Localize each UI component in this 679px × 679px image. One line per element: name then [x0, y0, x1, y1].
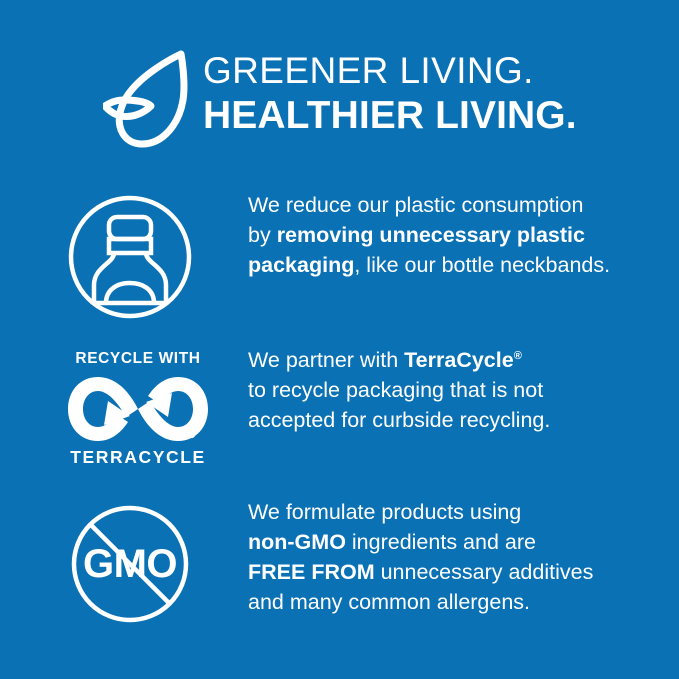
icon-cell-plastic — [60, 190, 210, 325]
gmo-label: GMO — [66, 505, 194, 623]
text-cell-gmo: We formulate products usingnon-GMO ingre… — [248, 497, 668, 617]
headline-line-1: GREENER LIVING. — [203, 48, 643, 93]
greener-living-infographic: { "theme": { "background_color": "#0a71b… — [0, 0, 679, 679]
body-line: We reduce our plastic consumption — [248, 190, 668, 220]
leaf-icon — [103, 48, 199, 152]
body-line: packaging, like our bottle neckbands. — [248, 250, 668, 280]
body-line: non-GMO ingredients and are — [248, 527, 668, 557]
body-line: FREE FROM unnecessary additives — [248, 557, 668, 587]
headline-line-2: HEALTHIER LIVING. — [203, 93, 643, 138]
icon-cell-terracycle: RECYCLE WITH ® TERRACYCLE — [60, 345, 210, 480]
terracycle-logo-top-text: RECYCLE WITH — [64, 349, 212, 368]
body-line: and many common allergens. — [248, 587, 668, 617]
feature-row-terracycle: RECYCLE WITH ® TERRACYCLE We partner wit… — [0, 345, 679, 485]
body-line: We partner with TerraCycle® — [248, 345, 668, 375]
headline-group: GREENER LIVING. HEALTHIER LIVING. — [203, 48, 643, 138]
header: GREENER LIVING. HEALTHIER LIVING. — [0, 0, 679, 170]
terracycle-registered-mark: ® — [188, 431, 195, 441]
text-cell-terracycle: We partner with TerraCycle®to recycle pa… — [248, 345, 668, 435]
body-line: accepted for curbside recycling. — [248, 405, 668, 435]
terracycle-recycle-logo: RECYCLE WITH ® TERRACYCLE — [64, 349, 212, 477]
feature-row-gmo: GMO We formulate products usingnon-GMO i… — [0, 497, 679, 637]
feature-row-plastic: We reduce our plastic consumptionby remo… — [0, 190, 679, 325]
body-line: by removing unnecessary plastic — [248, 220, 668, 250]
text-cell-plastic: We reduce our plastic consumptionby remo… — [248, 190, 668, 280]
plastic-bottle-neckband-icon — [66, 193, 194, 321]
terracycle-logo-bottom-text: TERRACYCLE — [64, 447, 212, 468]
no-gmo-icon: GMO — [66, 505, 194, 623]
body-line: to recycle packaging that is not — [248, 375, 668, 405]
body-line: We formulate products using — [248, 497, 668, 527]
icon-cell-gmo: GMO — [60, 497, 210, 632]
